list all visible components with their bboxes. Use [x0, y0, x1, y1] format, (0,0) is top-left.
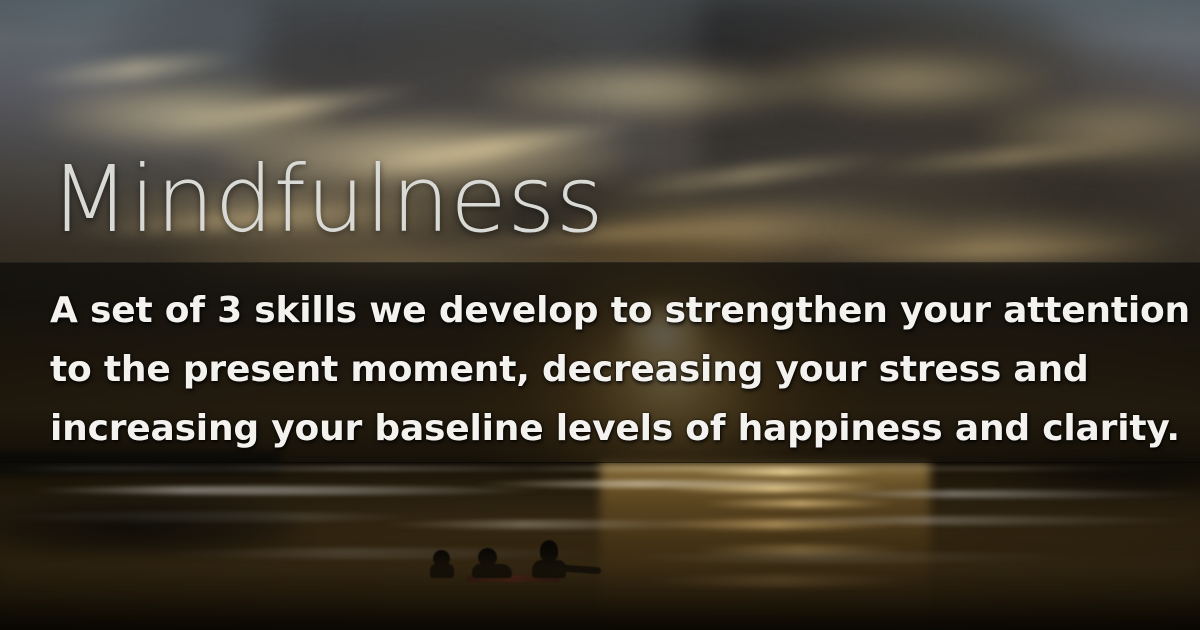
- description-line-2: to the present moment, decreasing your s…: [50, 340, 1160, 399]
- description-line-3: increasing your baseline levels of happi…: [50, 399, 1160, 458]
- description-text: A set of 3 skills we develop to strength…: [50, 281, 1160, 458]
- description-line-1: A set of 3 skills we develop to strength…: [50, 281, 1160, 340]
- mindfulness-banner: Mindfulness A set of 3 skills we develop…: [0, 0, 1200, 630]
- page-title: Mindfulness: [50, 148, 604, 251]
- band-top-divider: [0, 262, 1200, 263]
